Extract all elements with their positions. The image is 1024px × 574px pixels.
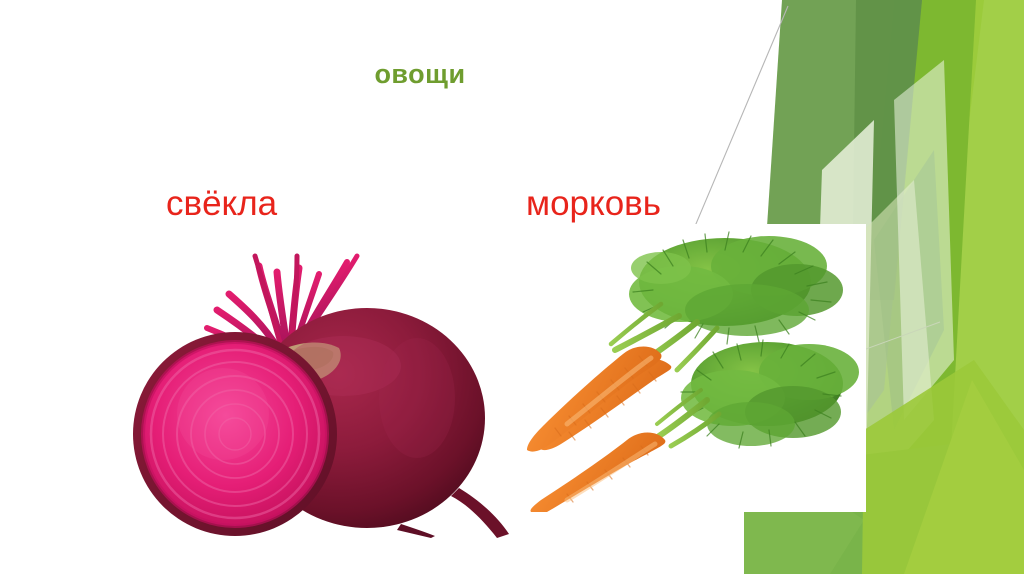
deco-shape-lime-right-2 bbox=[914, 0, 1024, 574]
label-beetroot: свёкла bbox=[166, 186, 277, 221]
deco-shape-lower-lime bbox=[862, 360, 1024, 574]
page-title: овощи bbox=[0, 60, 840, 90]
beetroot-photo bbox=[95, 238, 515, 538]
carrot-photo bbox=[511, 224, 866, 512]
beet-root-tip bbox=[397, 524, 435, 538]
hairline-diagonal bbox=[690, 6, 788, 238]
label-carrot: морковь bbox=[526, 186, 661, 221]
deco-shape-lime-right bbox=[894, 0, 1024, 574]
deco-shape-dark-overlap-2 bbox=[874, 150, 944, 430]
beet-root-tail bbox=[451, 488, 509, 538]
deco-shape-lower-lime-2 bbox=[904, 380, 1024, 574]
deco-shape-pale-sliver-3 bbox=[894, 60, 954, 420]
hairline-accent bbox=[690, 0, 850, 240]
slide: овощи свёкла bbox=[0, 0, 1024, 574]
